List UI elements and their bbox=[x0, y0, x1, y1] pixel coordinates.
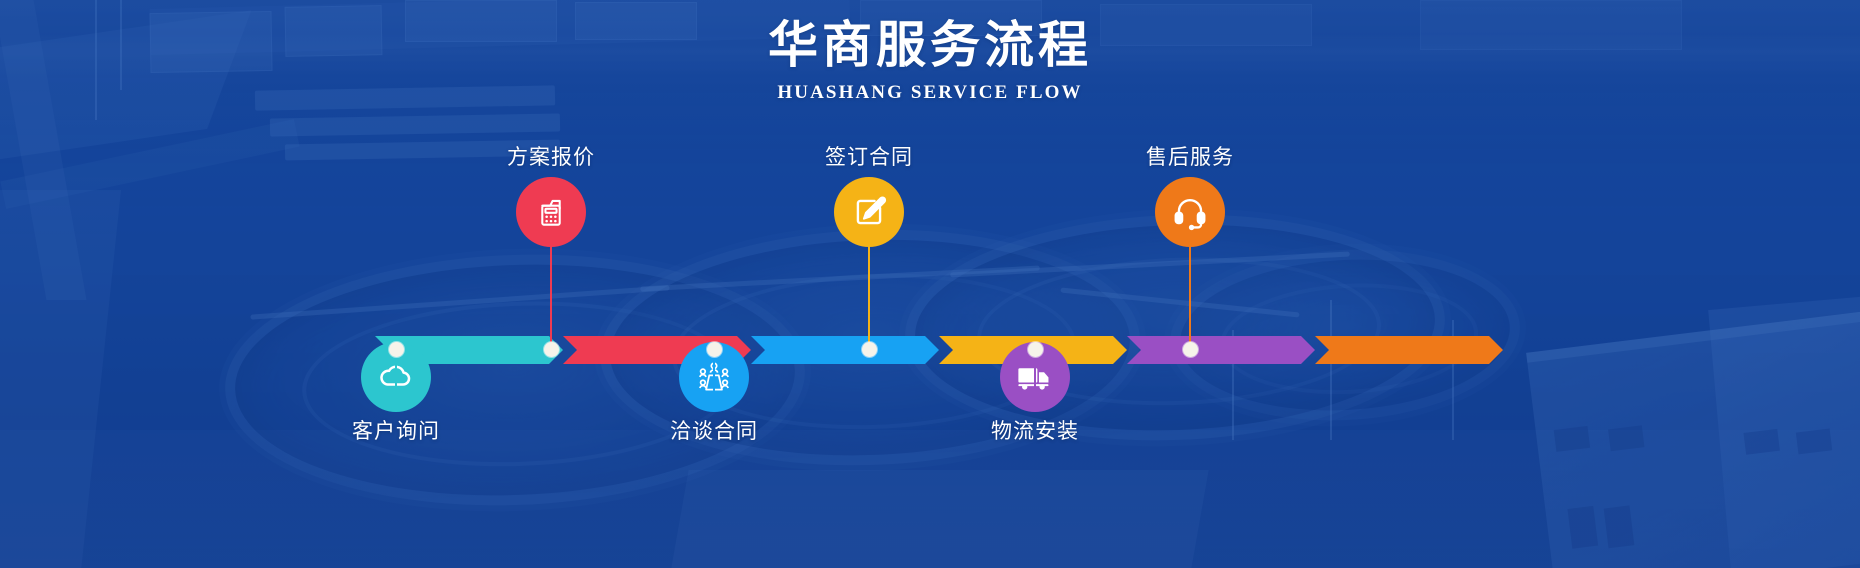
flow-connector-line bbox=[550, 245, 552, 350]
headset-support-icon bbox=[1171, 193, 1209, 231]
sign-contract-icon-bubble[interactable] bbox=[834, 177, 904, 247]
flow-step-dot[interactable] bbox=[1028, 342, 1043, 357]
flow-step-dot[interactable] bbox=[862, 342, 877, 357]
flow-arrow-segment-6[interactable] bbox=[1315, 336, 1503, 364]
page-subtitle: HUASHANG SERVICE FLOW bbox=[0, 82, 1860, 104]
flow-step-dot[interactable] bbox=[1183, 342, 1198, 357]
service-flow-banner: 华商服务流程 HUASHANG SERVICE FLOW 客户询问方案报价洽谈合… bbox=[0, 0, 1860, 568]
flow-connector-line bbox=[1034, 350, 1036, 410]
headset-support-icon-bubble[interactable] bbox=[1155, 177, 1225, 247]
flow-step-label-2: 方案报价 bbox=[507, 147, 595, 168]
flow-arrow-segment-5[interactable] bbox=[1127, 336, 1315, 364]
flow-step-label-3: 洽谈合同 bbox=[670, 421, 758, 442]
flow-step-dot[interactable] bbox=[544, 342, 559, 357]
flow-connector-line bbox=[395, 350, 397, 410]
calculator-icon bbox=[532, 193, 570, 231]
calculator-icon-bubble[interactable] bbox=[516, 177, 586, 247]
flow-step-label-4: 签订合同 bbox=[825, 147, 913, 168]
flow-step-label-5: 物流安装 bbox=[991, 421, 1079, 442]
flow-step-dot[interactable] bbox=[707, 342, 722, 357]
banner-header: 华商服务流程 HUASHANG SERVICE FLOW bbox=[0, 0, 1860, 104]
flow-connector-line bbox=[868, 245, 870, 350]
flow-step-label-1: 客户询问 bbox=[352, 421, 440, 442]
flow-step-label-6: 售后服务 bbox=[1146, 147, 1234, 168]
flow-arrow-segment-3[interactable] bbox=[751, 336, 939, 364]
flow-connector-line bbox=[713, 350, 715, 410]
page-title: 华商服务流程 bbox=[0, 0, 1860, 72]
flow-connector-line bbox=[1189, 245, 1191, 350]
flow-step-dot[interactable] bbox=[389, 342, 404, 357]
sign-contract-icon bbox=[850, 193, 888, 231]
